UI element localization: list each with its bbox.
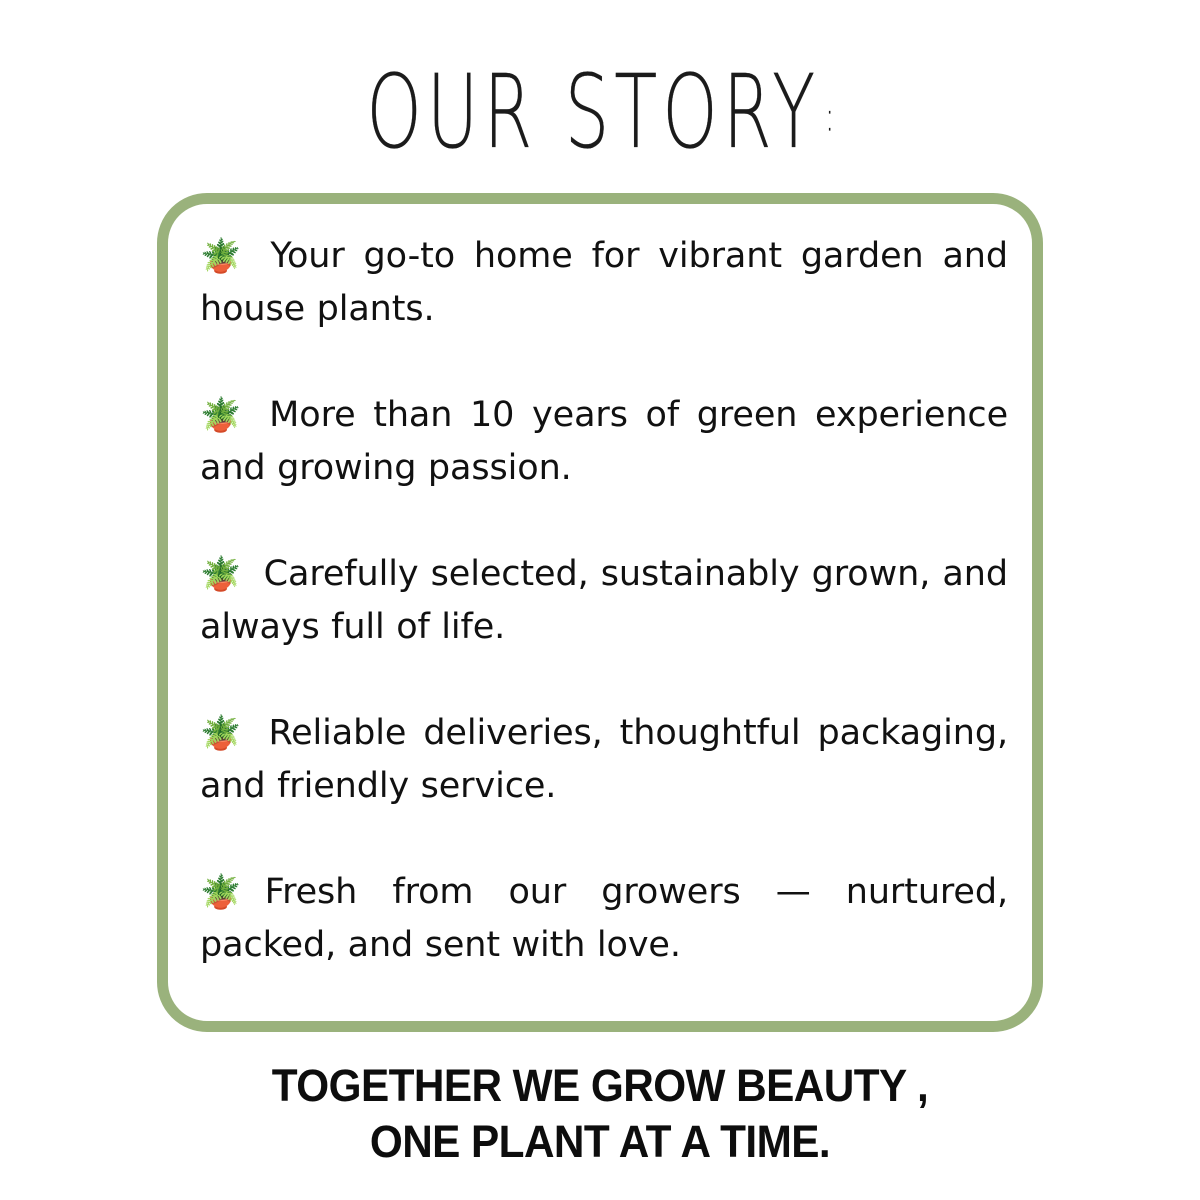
list-item: 🪴Fresh from our growers — nurtured, pack… xyxy=(200,866,1008,972)
list-item-text: Carefully selected, sustainably grown, a… xyxy=(200,554,1008,647)
potted-plant-icon: 🪴 xyxy=(200,395,247,434)
page-title-label: OUR STORY xyxy=(366,54,820,172)
list-item: 🪴Carefully selected, sustainably grown, … xyxy=(200,548,1008,654)
list-item-text: Fresh from our growers — nurtured, packe… xyxy=(200,872,1008,965)
potted-plant-icon: 🪴 xyxy=(200,236,248,275)
list-item: 🪴More than 10 years of green experience … xyxy=(200,389,1008,495)
potted-plant-icon: 🪴 xyxy=(200,554,242,593)
page-title-colon: : xyxy=(825,94,834,141)
list-item: 🪴Your go-to home for vibrant garden and … xyxy=(200,230,1008,336)
tagline-line-1: TOGETHER WE GROW BEAUTY , xyxy=(36,1058,1164,1114)
tagline: TOGETHER WE GROW BEAUTY , ONE PLANT AT A… xyxy=(0,1058,1200,1170)
list-item-text: Reliable deliveries, thoughtful packagin… xyxy=(200,713,1008,806)
page-title: OUR STORY: xyxy=(0,62,1200,162)
tagline-line-2: ONE PLANT AT A TIME. xyxy=(36,1114,1164,1170)
list-item: 🪴Reliable deliveries, thoughtful packagi… xyxy=(200,707,1008,813)
story-card: 🪴Your go-to home for vibrant garden and … xyxy=(157,193,1043,1032)
potted-plant-icon: 🪴 xyxy=(200,713,246,752)
list-item-text: More than 10 years of green experience a… xyxy=(200,395,1008,488)
story-card-content: 🪴Your go-to home for vibrant garden and … xyxy=(200,230,1008,1001)
potted-plant-icon: 🪴 xyxy=(200,872,265,911)
list-item-text: Your go-to home for vibrant garden and h… xyxy=(200,236,1008,329)
page-title-text: OUR STORY: xyxy=(366,62,834,163)
